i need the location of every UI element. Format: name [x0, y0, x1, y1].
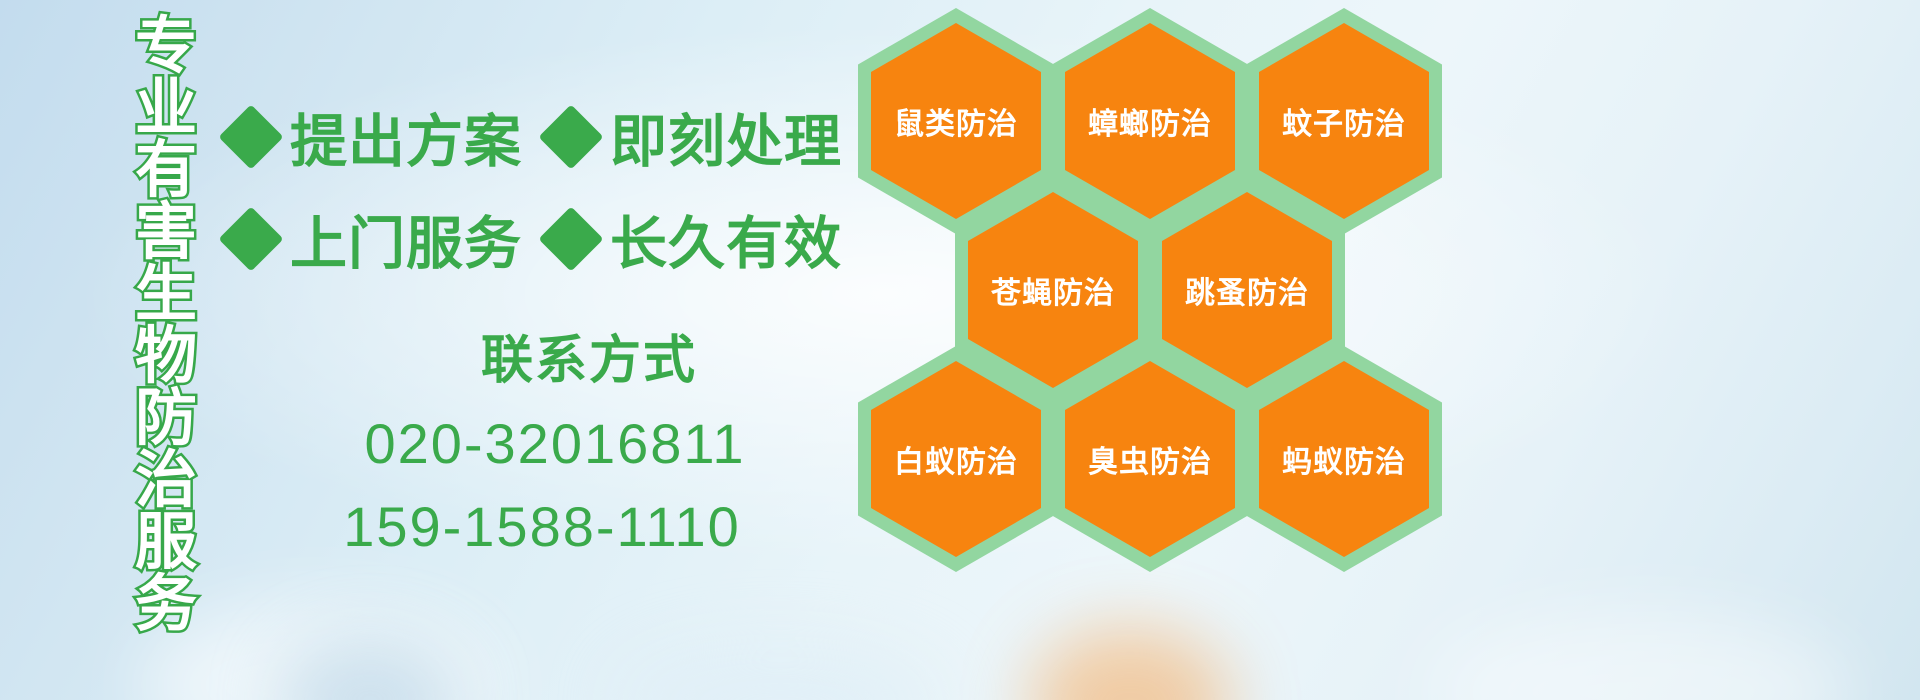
feature-label: 上门服务 [290, 198, 522, 280]
background-blur-blob [280, 640, 460, 700]
diamond-bullet-icon [538, 104, 603, 169]
vertical-headline-char: 业 [135, 78, 197, 140]
feature-item-onsite-service: 上门服务 [228, 198, 522, 280]
vertical-headline-char: 务 [135, 574, 197, 636]
background-blur-blob [1430, 612, 1850, 700]
service-hex-label: 白蚁防治 [858, 346, 1054, 572]
feature-label: 即刻处理 [610, 96, 842, 178]
service-hex-ant[interactable]: 蚂蚁防治 [1246, 346, 1442, 572]
vertical-headline-char: 生 [135, 264, 197, 326]
vertical-headline-char: 服 [135, 512, 197, 574]
vertical-headline-char: 防 [135, 388, 197, 450]
contact-block: 联系方式 020-32016811 159-1588-1110 [228, 318, 868, 559]
feature-row: 上门服务 长久有效 [228, 188, 868, 290]
vertical-headline-char: 有 [135, 140, 197, 202]
vertical-headline-char: 专 [135, 16, 197, 78]
feature-item-immediate-handling: 即刻处理 [548, 96, 842, 178]
vertical-headline: 专 业 有 害 生 物 防 治 服 务 [112, 16, 220, 572]
feature-row: 提出方案 即刻处理 [228, 86, 868, 188]
service-hex-bedbug[interactable]: 臭虫防治 [1052, 346, 1248, 572]
vertical-headline-char: 治 [135, 450, 197, 512]
service-hex-termite[interactable]: 白蚁防治 [858, 346, 1054, 572]
feature-item-long-lasting: 长久有效 [548, 198, 842, 280]
feature-list: 提出方案 即刻处理 上门服务 长久有效 [228, 86, 868, 290]
contact-title: 联系方式 [310, 318, 868, 393]
diamond-bullet-icon [218, 206, 283, 271]
background-blur-blob [1030, 628, 1230, 700]
feature-label: 提出方案 [290, 96, 522, 178]
pest-control-banner: 专 业 有 害 生 物 防 治 服 务 提出方案 即刻处理 上门服务 [0, 0, 1920, 700]
contact-phone-mobile[interactable]: 159-1588-1110 [216, 494, 868, 559]
service-hex-grid: 鼠类防治 蟑螂防治 蚊子防治 苍蝇防治 跳蚤防治 白蚁防治 [858, 2, 1458, 572]
feature-item-propose-plan: 提出方案 [228, 96, 522, 178]
vertical-headline-char: 害 [135, 202, 197, 264]
diamond-bullet-icon [538, 206, 603, 271]
vertical-headline-char: 物 [135, 326, 197, 388]
feature-label: 长久有效 [610, 198, 842, 280]
diamond-bullet-icon [218, 104, 283, 169]
contact-phone-landline[interactable]: 020-32016811 [242, 411, 868, 476]
service-hex-label: 蚂蚁防治 [1246, 346, 1442, 572]
background-blur-blob [620, 648, 940, 700]
service-hex-label: 臭虫防治 [1052, 346, 1248, 572]
